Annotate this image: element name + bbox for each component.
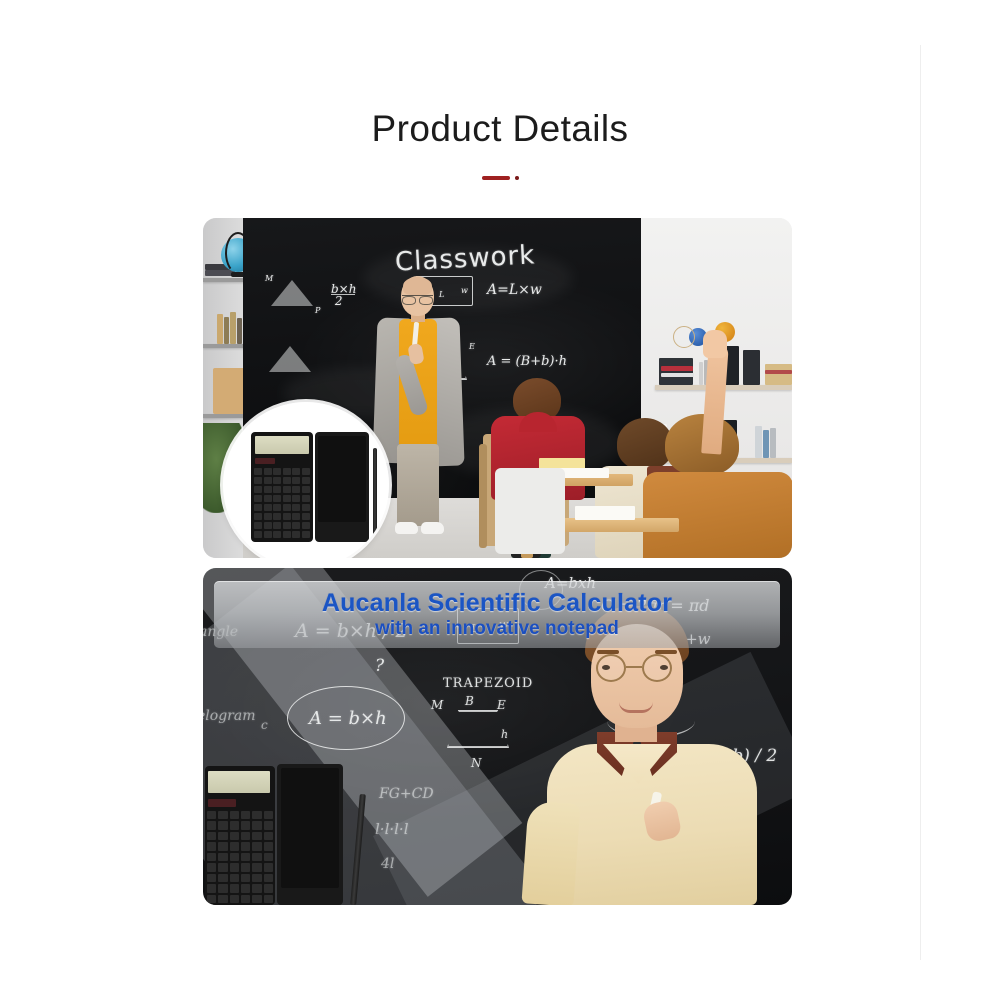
book xyxy=(237,318,242,344)
product-calculator xyxy=(205,766,411,905)
paper-sheet xyxy=(575,506,635,520)
book xyxy=(224,317,229,344)
classroom-photo[interactable]: Classwork M P b×h 2 L w A=L×w M B xyxy=(203,218,792,558)
calculator-keypad xyxy=(207,811,273,903)
notepad-screen xyxy=(318,436,366,522)
divider-bar xyxy=(482,176,510,180)
calculator-screen xyxy=(208,771,270,793)
book xyxy=(217,314,223,344)
formula-area-rect: A=L×w xyxy=(487,282,542,298)
chair xyxy=(495,468,565,554)
desk xyxy=(549,518,679,532)
title-divider xyxy=(0,172,1000,184)
notepad-screen xyxy=(281,768,339,888)
glasses-icon xyxy=(590,654,686,682)
promo-banner: Aucanla Scientific Calculator with an in… xyxy=(214,581,780,648)
calculator-keypad xyxy=(254,468,310,538)
student-figure xyxy=(533,606,783,905)
book xyxy=(230,312,236,344)
promo-subtitle: with an innovative notepad xyxy=(375,619,619,639)
label-trapezoid: TRAPEZOID xyxy=(443,676,533,691)
classroom-scene: Classwork M P b×h 2 L w A=L×w M B xyxy=(203,218,792,558)
stylus xyxy=(350,794,366,905)
page-title: Product Details xyxy=(0,108,1000,150)
product-details-page: Product Details xyxy=(0,0,1000,1000)
banner-photo[interactable]: A = b×h / 2 ? A = b×h angle elogram c M … xyxy=(203,568,792,905)
product-inset[interactable] xyxy=(223,402,389,558)
chalk-ellipse xyxy=(287,686,405,750)
stylus xyxy=(373,448,377,542)
formula-area-trap: A = (B+b)·h xyxy=(487,354,567,369)
solar-panel xyxy=(208,799,236,807)
promo-title: Aucanla Scientific Calculator xyxy=(322,590,672,616)
label-elogram: elogram xyxy=(203,708,255,724)
divider-dot xyxy=(515,176,519,180)
banner-scene: A = b×h / 2 ? A = b×h angle elogram c M … xyxy=(203,568,792,905)
calculator-screen xyxy=(255,436,309,454)
solar-panel xyxy=(255,458,275,464)
